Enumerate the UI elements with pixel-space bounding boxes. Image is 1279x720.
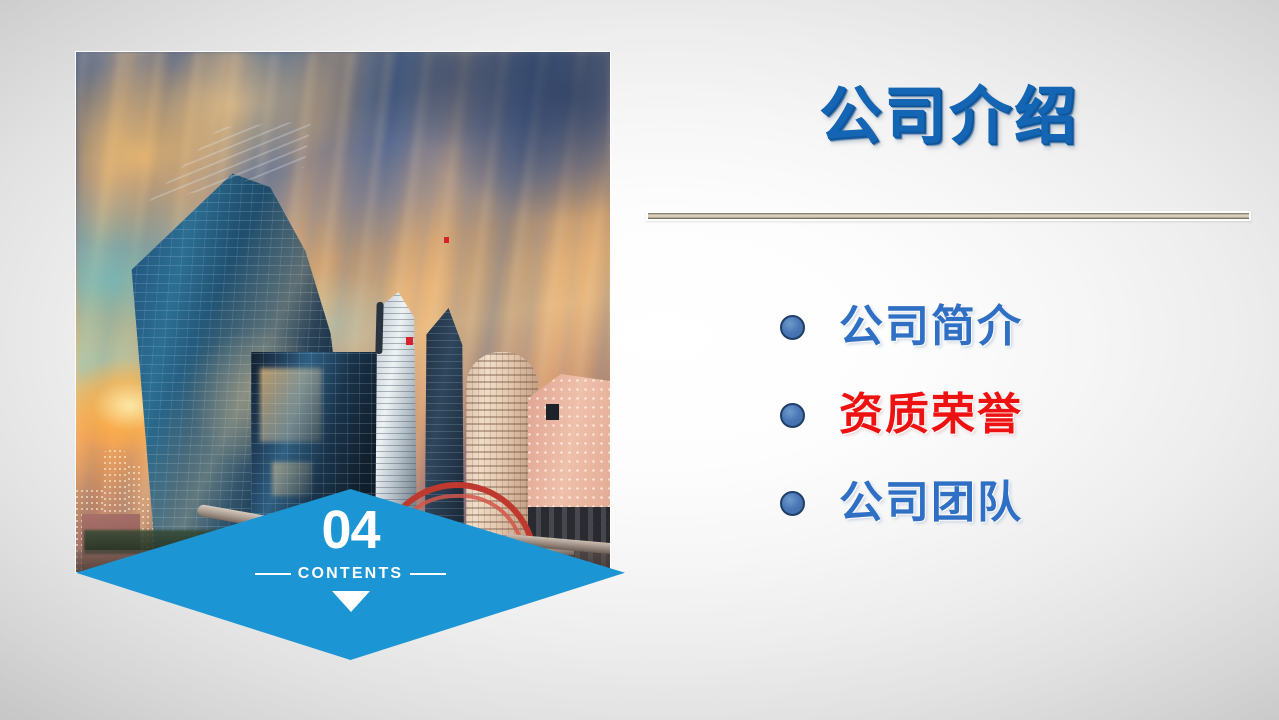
list-item[interactable]: 公司简介 bbox=[780, 283, 1250, 371]
contents-label: CONTENTS bbox=[298, 566, 404, 582]
list-item-label: 资质荣誉 bbox=[839, 393, 1023, 437]
rule-left-icon bbox=[255, 573, 291, 575]
bullet-dot-icon bbox=[780, 315, 805, 340]
list-item-label: 公司简介 bbox=[839, 305, 1023, 349]
contents-label-row: CONTENTS bbox=[255, 566, 447, 582]
page-title: 公司介绍 bbox=[645, 84, 1253, 149]
list-item[interactable]: 公司团队 bbox=[780, 459, 1250, 547]
agenda-list: 公司简介 资质荣誉 公司团队 bbox=[780, 283, 1250, 547]
photo-dark-window bbox=[546, 404, 559, 420]
photo-glass-reflection bbox=[260, 368, 322, 442]
photo-red-signal bbox=[406, 337, 413, 345]
photo-glass-reflection bbox=[272, 462, 312, 496]
bullet-dot-icon bbox=[780, 403, 805, 428]
divider-bar bbox=[648, 213, 1249, 219]
title-divider bbox=[646, 211, 1251, 221]
caret-down-icon bbox=[332, 591, 370, 612]
rule-right-icon bbox=[410, 573, 446, 575]
list-item[interactable]: 资质荣誉 bbox=[780, 371, 1250, 459]
list-item-label: 公司团队 bbox=[839, 481, 1023, 525]
bullet-dot-icon bbox=[780, 491, 805, 516]
section-number: 04 bbox=[321, 503, 379, 557]
photo-tower-slot bbox=[375, 302, 383, 354]
photo-red-signal bbox=[444, 237, 449, 243]
presentation-slide: 04 CONTENTS 公司介绍 公司简介 资质荣誉 公司团队 bbox=[0, 0, 1279, 720]
